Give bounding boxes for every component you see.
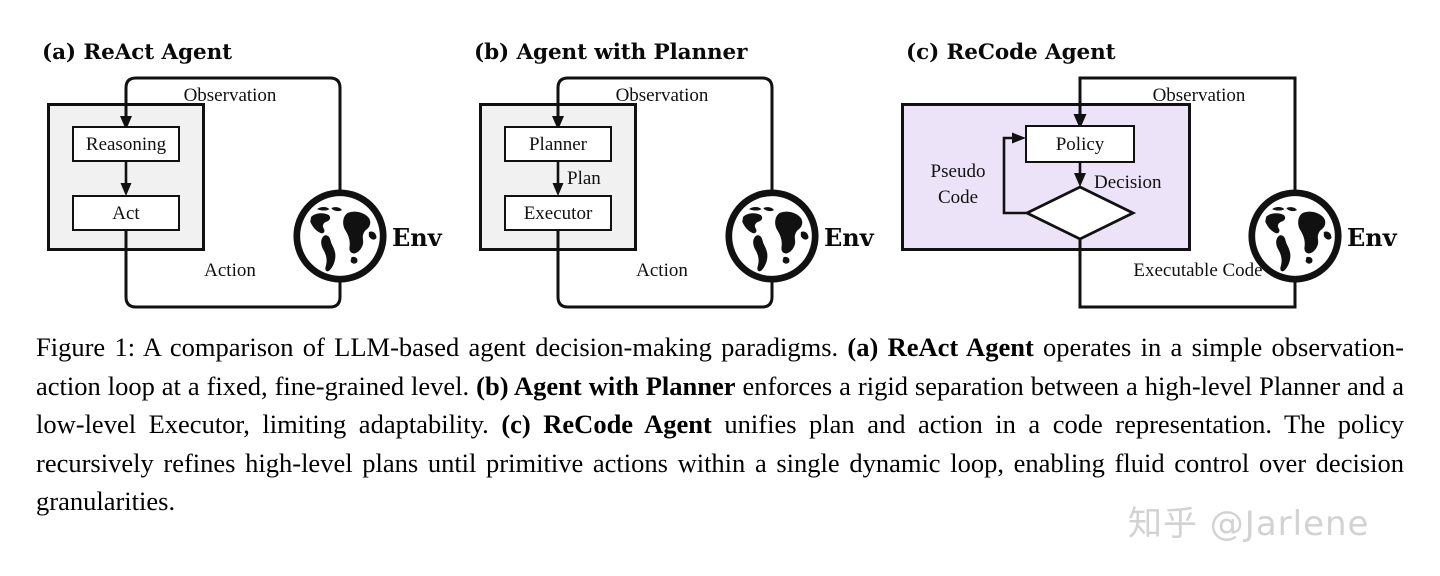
edge-label-observation: Observation	[140, 85, 320, 106]
env-label: Env	[1347, 223, 1397, 252]
edge-label-executable-code: Executable Code	[1083, 260, 1313, 281]
node-planner[interactable]: Planner	[504, 126, 612, 162]
arrow-recursive-loop	[1012, 133, 1026, 144]
figure-caption: Figure 1: A comparison of LLM-based agen…	[36, 328, 1404, 521]
node-reasoning[interactable]: Reasoning	[72, 126, 180, 162]
edge-label-observation: Observation	[1094, 85, 1304, 106]
caption-segment-5: (c) ReCode Agent	[501, 409, 712, 439]
edge-label-action: Action	[140, 260, 320, 281]
edge-label-action: Action	[572, 260, 752, 281]
panel-b-title: (b) Agent with Planner	[474, 40, 747, 65]
caption-segment-3: (b) Agent with Planner	[476, 371, 735, 401]
env-label: Env	[824, 223, 874, 252]
figure-canvas: (a) ReAct Agent Reasoning Act Observatio…	[0, 0, 1440, 576]
edge-label-observation: Observation	[572, 85, 752, 106]
panel-a-title: (a) ReAct Agent	[42, 40, 232, 65]
panel-agent-with-planner: (b) Agent with Planner Planner Executor …	[466, 30, 886, 320]
pseudo-code-label-line1: Pseudo	[908, 161, 1008, 182]
decision-diamond	[1027, 187, 1133, 239]
node-executor[interactable]: Executor	[504, 195, 612, 231]
arrow-policy-to-decision	[1074, 173, 1086, 187]
pseudo-code-label-line2: Code	[908, 187, 1008, 208]
panel-a-diagram: Reasoning Act Observation Action	[34, 75, 454, 320]
edge-label-decision: Decision	[1094, 172, 1162, 193]
edge-label-plan: Plan	[567, 168, 601, 189]
node-policy[interactable]: Policy	[1025, 125, 1135, 163]
panel-c-title: (c) ReCode Agent	[906, 40, 1115, 65]
caption-segment-0: Figure 1: A comparison of LLM-based agen…	[36, 332, 847, 362]
panel-react-agent: (a) ReAct Agent Reasoning Act Observatio…	[34, 30, 454, 320]
env-label: Env	[392, 223, 442, 252]
panel-b-diagram: Planner Executor Observation Plan Action	[466, 75, 886, 320]
panel-c-diagram: Pseudo Code Policy Observation Decision …	[898, 75, 1406, 320]
panel-recode-agent: (c) ReCode Agent Pseudo Code Policy Obse…	[898, 30, 1406, 320]
caption-segment-1: (a) ReAct Agent	[847, 332, 1033, 362]
node-act[interactable]: Act	[72, 195, 180, 231]
